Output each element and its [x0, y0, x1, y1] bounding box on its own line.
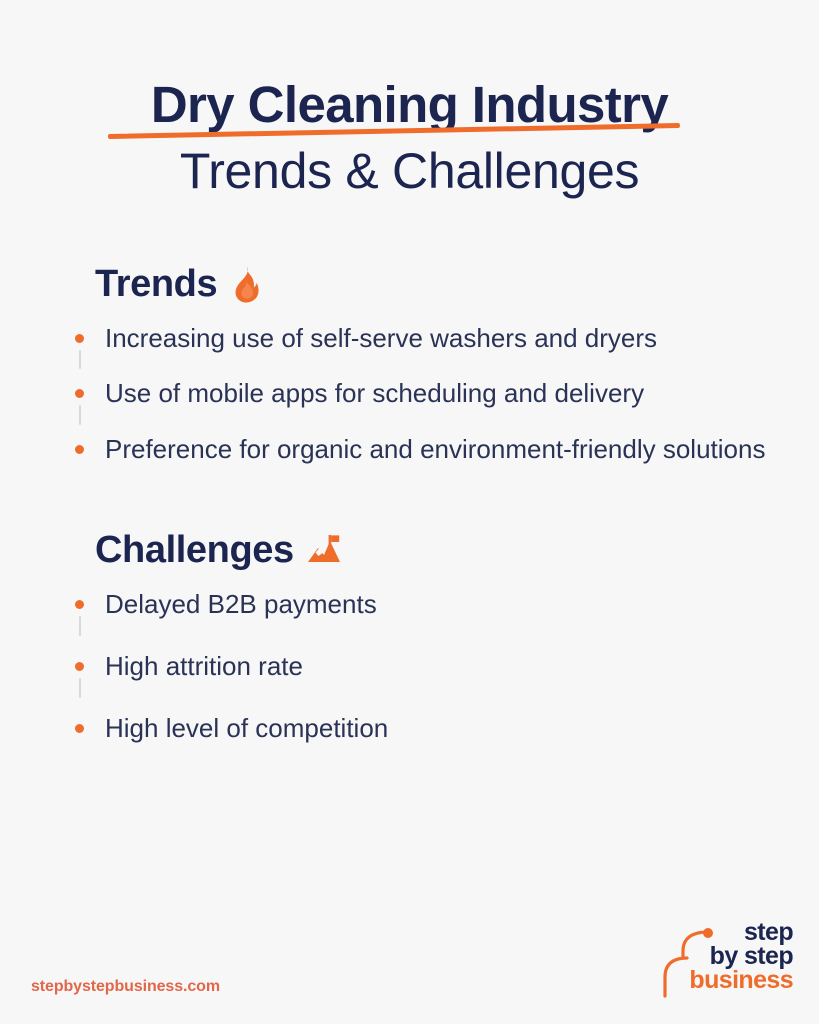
sections-container: Trends Increasing use of self-serve wash… [0, 263, 819, 746]
bullet-dot-icon [75, 724, 84, 733]
logo-line-2: by step [689, 944, 793, 968]
bullet-dot-icon [75, 389, 84, 398]
section-trends-title: Trends [95, 263, 217, 306]
section-challenges: Challenges Delayed B2B payments High att… [75, 529, 819, 745]
mountain-flag-emoji [306, 532, 342, 568]
brand-logo[interactable]: step by step business [645, 920, 793, 1002]
list-item-text: Use of mobile apps for scheduling and de… [105, 378, 644, 408]
list-item-text: Delayed B2B payments [105, 589, 377, 619]
section-challenges-title: Challenges [95, 529, 294, 572]
list-item-text: Increasing use of self-serve washers and… [105, 323, 657, 353]
bullet-dot-icon [75, 600, 84, 609]
list-item-text: High attrition rate [105, 651, 303, 681]
section-trends: Trends Increasing use of self-serve wash… [75, 263, 819, 467]
logo-line-3: business [689, 968, 793, 992]
list-item: Preference for organic and environment-f… [75, 433, 819, 467]
section-challenges-header: Challenges [95, 529, 819, 572]
bullet-dot-icon [75, 445, 84, 454]
fire-emoji [229, 265, 263, 303]
list-item: Use of mobile apps for scheduling and de… [75, 377, 819, 411]
bullet-dot-icon [75, 334, 84, 343]
challenges-bullet-list: Delayed B2B payments High attrition rate… [75, 588, 819, 745]
bullet-connector-line [79, 678, 81, 698]
bullet-connector-line [79, 350, 81, 370]
title-sub-line: Trends & Challenges [0, 142, 819, 201]
section-trends-header: Trends [95, 263, 819, 306]
infographic-page: { "theme": { "background": "#f7f7f7", "n… [0, 0, 819, 1024]
bullet-connector-line [79, 616, 81, 636]
list-item-text: Preference for organic and environment-f… [105, 434, 765, 464]
footer-website-url[interactable]: stepbystepbusiness.com [31, 978, 220, 996]
logo-line-1: step [689, 920, 793, 944]
list-item: High attrition rate [75, 650, 819, 684]
bullet-connector-line [79, 405, 81, 425]
trends-bullet-list: Increasing use of self-serve washers and… [75, 322, 819, 467]
title-main-line: Dry Cleaning Industry [0, 78, 819, 132]
list-item-text: High level of competition [105, 713, 388, 743]
logo-wordmark: step by step business [689, 920, 793, 992]
page-title: Dry Cleaning Industry Trends & Challenge… [0, 0, 819, 201]
list-item: Increasing use of self-serve washers and… [75, 322, 819, 356]
bullet-dot-icon [75, 662, 84, 671]
list-item: Delayed B2B payments [75, 588, 819, 622]
list-item: High level of competition [75, 712, 819, 746]
